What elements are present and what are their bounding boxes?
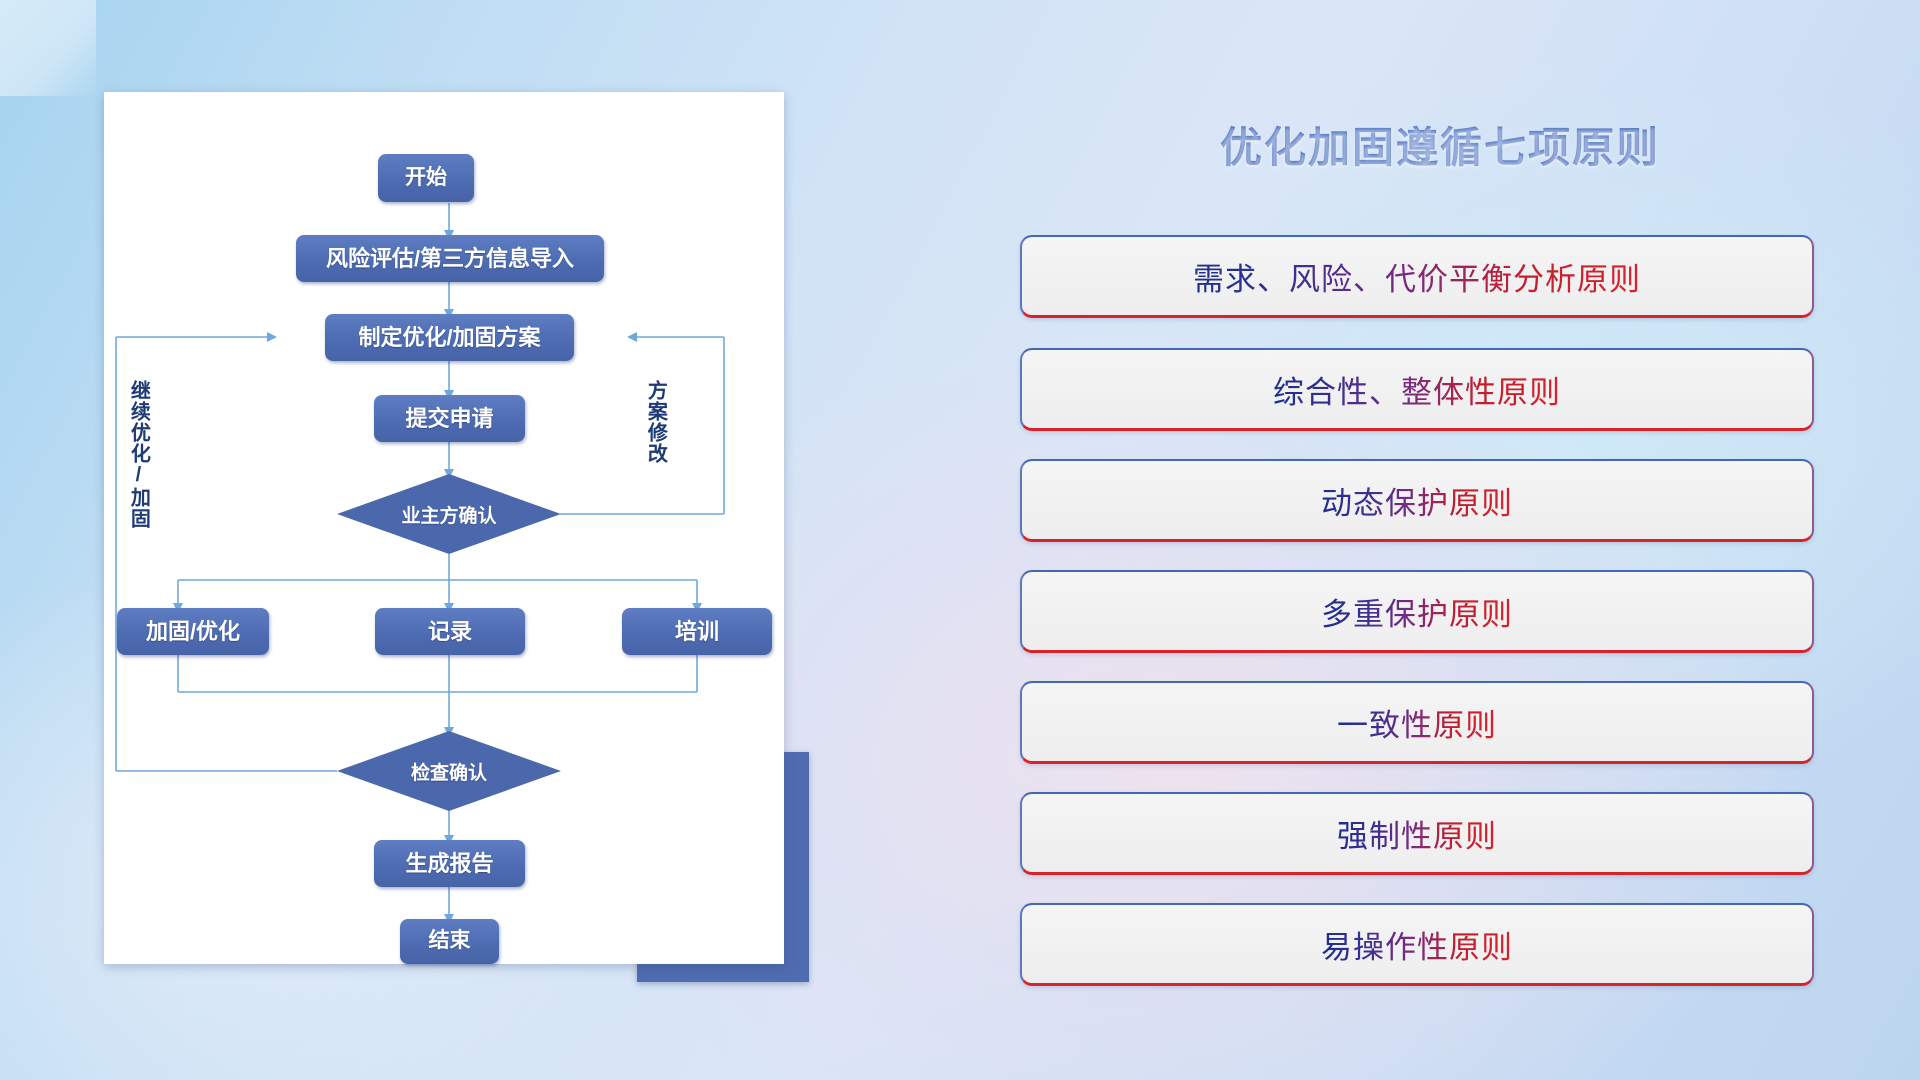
flow-node-label: 业主方确认 — [401, 501, 496, 528]
flow-label-plan-revision: 方案修改 — [645, 380, 665, 502]
principle-label: 强制性原则 — [1337, 811, 1497, 856]
flow-node-end[interactable]: 结束 — [400, 919, 499, 964]
flow-node-training[interactable]: 培训 — [622, 608, 772, 655]
flow-node-label: 提交申请 — [405, 406, 493, 431]
principle-label: 综合性、整体性原则 — [1273, 367, 1561, 412]
flow-node-reinforce[interactable]: 加固/优化 — [117, 608, 269, 655]
flow-node-label: 开始 — [405, 166, 447, 190]
flow-node-label: 检查确认 — [411, 758, 487, 785]
panel-title: 优化加固遵循七项原则 — [1020, 114, 1860, 175]
flow-node-label: 加固/优化 — [146, 619, 240, 644]
flow-label-text: 方案修改 — [644, 380, 666, 464]
flow-node-plan[interactable]: 制定优化/加固方案 — [325, 314, 574, 361]
flow-node-check-confirm[interactable]: 检查确认 — [337, 731, 561, 811]
flow-node-label: 培训 — [675, 619, 719, 644]
principle-item-1[interactable]: 需求、风险、代价平衡分析原则 — [1020, 235, 1814, 318]
flow-node-submit[interactable]: 提交申请 — [374, 395, 525, 442]
flow-label-continue-optimize: 继续优化/加固 — [128, 380, 148, 540]
principle-label: 多重保护原则 — [1321, 589, 1513, 634]
principle-item-4[interactable]: 多重保护原则 — [1020, 570, 1814, 653]
flow-node-start[interactable]: 开始 — [378, 154, 474, 202]
flow-node-label: 生成报告 — [405, 851, 493, 876]
principle-item-5[interactable]: 一致性原则 — [1020, 681, 1814, 764]
principle-label: 一致性原则 — [1337, 700, 1497, 745]
principle-item-3[interactable]: 动态保护原则 — [1020, 459, 1814, 542]
flow-node-label: 记录 — [428, 619, 472, 644]
flow-node-record[interactable]: 记录 — [375, 608, 525, 655]
flow-label-text: 继续优化/加固 — [127, 380, 149, 529]
flow-node-label: 风险评估/第三方信息导入 — [326, 246, 574, 271]
principle-label: 动态保护原则 — [1321, 478, 1513, 523]
flow-node-label: 结束 — [429, 929, 471, 953]
principle-label: 需求、风险、代价平衡分析原则 — [1193, 254, 1641, 299]
flowchart: 开始 风险评估/第三方信息导入 制定优化/加固方案 提交申请 业主方确认 加固/… — [104, 92, 784, 964]
background-corner-glow — [0, 0, 96, 96]
flow-node-label: 制定优化/加固方案 — [358, 325, 540, 350]
principle-label: 易操作性原则 — [1321, 922, 1513, 967]
principle-item-6[interactable]: 强制性原则 — [1020, 792, 1814, 875]
flow-node-report[interactable]: 生成报告 — [374, 840, 525, 887]
flow-node-owner-confirm[interactable]: 业主方确认 — [337, 474, 561, 554]
flow-node-risk-assessment[interactable]: 风险评估/第三方信息导入 — [296, 235, 604, 282]
principles-panel: 优化加固遵循七项原则 需求、风险、代价平衡分析原则 综合性、整体性原则 动态保护… — [1020, 92, 1860, 1012]
principle-item-7[interactable]: 易操作性原则 — [1020, 903, 1814, 986]
principle-item-2[interactable]: 综合性、整体性原则 — [1020, 348, 1814, 431]
